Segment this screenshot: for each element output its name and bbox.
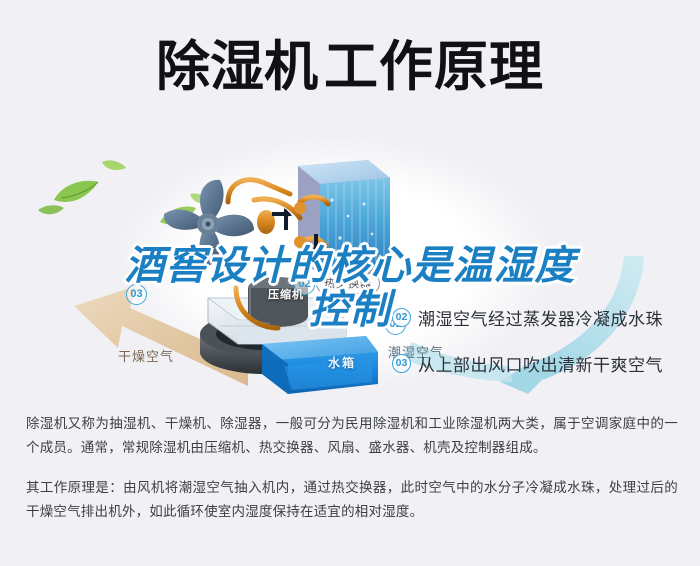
legend-item: 02 潮湿空气经过蒸发器冷凝成水珠 — [392, 300, 692, 334]
body-paragraph-1: 除湿机又称为抽湿机、干燥机、除湿器，一般可分为民用除湿机和工业除湿机两大类，属于… — [26, 412, 678, 460]
legend-badge-02: 02 — [392, 308, 411, 327]
page-title-part1: 除湿机 — [156, 37, 318, 97]
water-tank-label: 水箱 — [328, 354, 356, 371]
badge-03-diagram: 03 — [126, 284, 147, 305]
legend-text-03: 从上部出风口吹出清新干爽空气 — [418, 351, 663, 376]
callout-tail-icon — [344, 291, 354, 299]
compressor-label: 压缩机 — [268, 286, 304, 302]
page-title-part2: 工作原理 — [324, 37, 544, 97]
article-body: 除湿机又称为抽湿机、干燥机、除湿器，一般可分为民用除湿机和工业除湿机两大类，属于… — [26, 412, 678, 524]
infographic-page: 除湿机工作原理 — [0, 0, 700, 566]
body-paragraph-2: 其工作原理是：由风机将潮湿空气抽入机内，通过热交换器，此时空气中的水分子冷凝成水… — [26, 476, 678, 524]
page-title: 除湿机工作原理 — [0, 36, 700, 98]
dry-air-label: 干燥空气 — [118, 346, 174, 365]
legend-text-02: 潮湿空气经过蒸发器冷凝成水珠 — [418, 305, 663, 330]
legend-badge-03: 03 — [392, 354, 411, 373]
legend-item: 03 从上部出风口吹出清新干爽空气 — [392, 346, 692, 380]
diagram-legend: 02 潮湿空气经过蒸发器冷凝成水珠 03 从上部出风口吹出清新干爽空气 — [392, 300, 692, 392]
dehumidifier-machine-graphic — [150, 138, 410, 400]
leaf-decoration-icon — [36, 148, 146, 258]
